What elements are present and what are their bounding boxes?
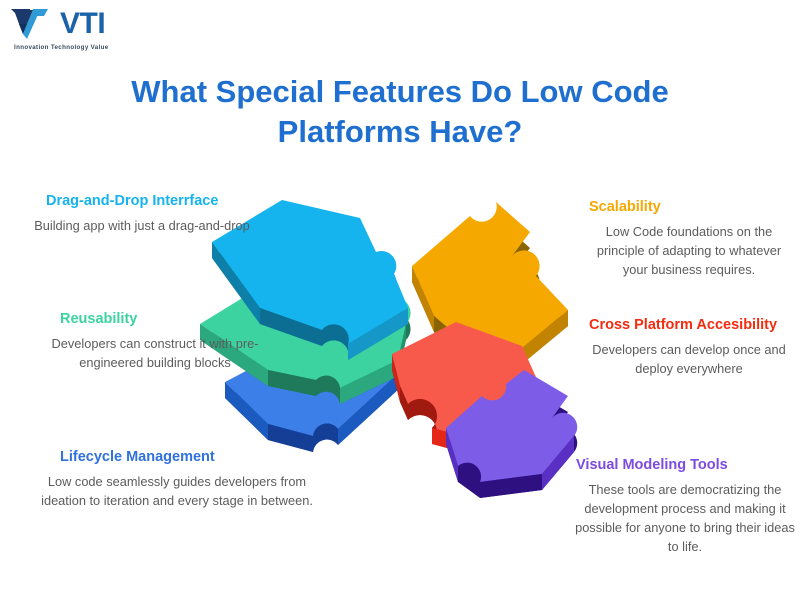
vti-v-logo-icon <box>10 8 58 42</box>
feature-body: Developers can construct it with pre-eng… <box>30 334 280 372</box>
brand-wordmark: VTI <box>60 7 105 41</box>
feature-scalability: Scalability Low Code foundations on the … <box>583 198 795 279</box>
feature-body: Low Code foundations on the principle of… <box>583 222 795 279</box>
feature-cross-platform-accesibility: Cross Platform Accesibility Developers c… <box>583 316 795 378</box>
page-title: What Special Features Do Low Code Platfo… <box>90 72 710 152</box>
feature-heading: Reusability <box>30 310 280 328</box>
feature-drag-and-drop-interrface: Drag-and-Drop Interrface Building app wi… <box>30 192 280 235</box>
feature-reusability: Reusability Developers can construct it … <box>30 310 280 372</box>
feature-heading: Visual Modeling Tools <box>570 456 800 474</box>
brand-tagline: Innovation Technology Value <box>14 44 109 51</box>
feature-body: Building app with just a drag-and-drop <box>30 216 280 235</box>
feature-visual-modeling-tools: Visual Modeling Tools These tools are de… <box>570 456 800 556</box>
feature-lifecycle-management: Lifecycle Management Low code seamlessly… <box>32 448 322 510</box>
brand-logo[interactable]: VTI Innovation Technology Value <box>8 6 138 56</box>
feature-heading: Scalability <box>583 198 795 216</box>
feature-heading: Lifecycle Management <box>32 448 322 466</box>
feature-body: Developers can develop once and deploy e… <box>583 340 795 378</box>
feature-heading: Cross Platform Accesibility <box>583 316 795 334</box>
infographic-page: VTI Innovation Technology Value What Spe… <box>0 0 800 600</box>
feature-body: Low code seamlessly guides developers fr… <box>32 472 322 510</box>
feature-heading: Drag-and-Drop Interrface <box>30 192 280 210</box>
feature-body: These tools are democratizing the develo… <box>570 480 800 556</box>
